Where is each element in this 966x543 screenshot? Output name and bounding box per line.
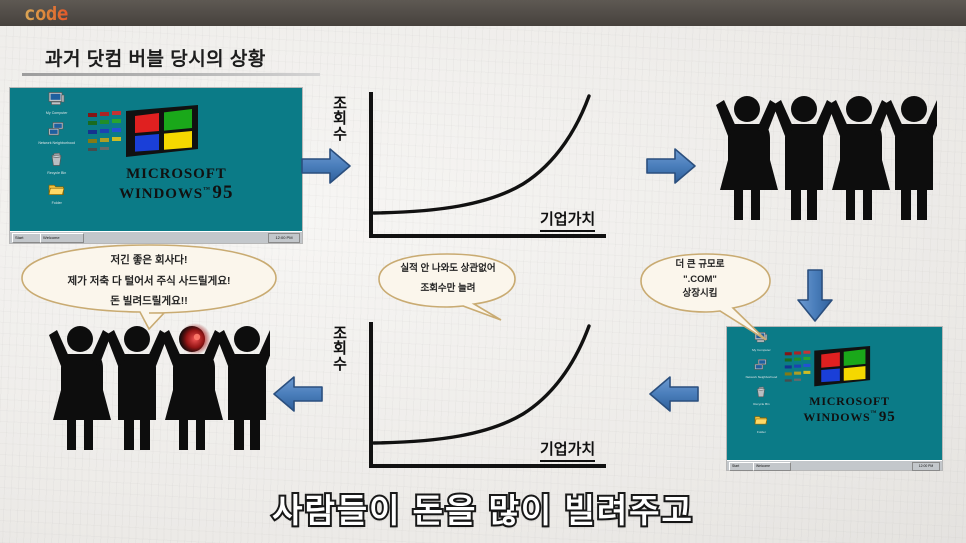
brand-tm: ™: [870, 410, 876, 416]
person-male-2: [883, 96, 937, 220]
windows-flag-icon: [86, 105, 204, 163]
icon-network-neighborhood[interactable]: Network Neighborhood: [736, 358, 788, 379]
slide-canvas: code 과거 닷컴 버블 당시의 상황 My Computer: [0, 0, 966, 543]
chart-bottom: 조회수 기업가치: [368, 322, 608, 472]
win95-taskbar[interactable]: Start Welcome 12:00 PM: [10, 231, 302, 243]
icon-recycle-bin[interactable]: Recycle Bin: [736, 385, 788, 406]
win95-taskbar[interactable]: Start Welcome 12:00 PM: [727, 460, 942, 470]
speech-bubble-company-text: 실적 안 나와도 상관없어 조회수만 늘려: [375, 252, 527, 330]
arrow-win95-to-chart-top: [300, 146, 352, 191]
start-label: Start: [732, 464, 739, 468]
crowd-bottom: [45, 318, 270, 473]
taskbar-window-button[interactable]: Welcome: [753, 462, 791, 471]
bubble-line: 더 큰 규모로: [676, 258, 725, 273]
clock-label: 12:00 PM: [919, 464, 934, 468]
bubble-line: 상장시킴: [683, 287, 718, 302]
speech-bubble-investors-text: 저긴 좋은 회사다! 제가 저축 다 털어서 주식 사드릴게요! 돈 빌려드릴게…: [18, 243, 280, 331]
network-neighborhood-icon: [22, 122, 92, 142]
icon-network-neighborhood[interactable]: Network Neighborhood: [22, 122, 92, 146]
arrow-chart-bottom-to-crowd-bottom: [272, 374, 324, 419]
windows95-screenshot-bottom: My Computer Network Neighborhood: [727, 327, 942, 470]
bubble-line: 실적 안 나와도 상관없어: [400, 259, 495, 279]
taskbar-window-label: Welcome: [43, 235, 60, 240]
icon-folder[interactable]: Folder: [736, 413, 788, 434]
folder-icon: [22, 182, 92, 202]
person-male-2: [216, 326, 270, 450]
title-divider: [22, 73, 320, 76]
taskbar-clock: 12:00 PM: [912, 462, 940, 471]
icon-label: Network Neighborhood: [22, 142, 92, 146]
person-female-2: [828, 96, 890, 220]
taskbar-window-button[interactable]: Welcome: [40, 233, 84, 243]
recycle-bin-icon: [22, 152, 92, 172]
brand-windows-line: WINDOWS™95: [86, 182, 267, 204]
chart-top-ylabel: 조회수: [323, 96, 357, 142]
icon-my-computer[interactable]: My Computer: [22, 92, 92, 116]
brand-version: 95: [879, 409, 896, 425]
speech-bubble-company: 실적 안 나와도 상관없어 조회수만 늘려: [375, 252, 527, 330]
speech-bubble-ipo: 더 큰 규모로 ".COM" 상장시킴: [636, 252, 784, 348]
code-logo: code: [24, 3, 68, 25]
brand-windows-line: WINDOWS™95: [783, 408, 916, 426]
person-female-1: [716, 96, 778, 220]
windows95-screenshot-top: My Computer Network Neighborhood: [10, 88, 302, 243]
clock-label: 12:00 PM: [275, 235, 292, 240]
person-female-1: [49, 326, 111, 450]
bubble-line: ".COM": [683, 273, 717, 288]
windows95-brand-logo: MICROSOFT WINDOWS™95: [86, 105, 267, 204]
chart-bottom-ylabel: 조회수: [323, 326, 357, 372]
bubble-line: 조회수만 늘려: [420, 279, 475, 299]
brand-tm: ™: [203, 186, 210, 194]
icon-label: Recycle Bin: [22, 172, 92, 176]
win95-desktop-icons: My Computer Network Neighborhood: [22, 92, 92, 211]
bottom-caption: 사람들이 돈을 많이 빌려주고: [0, 484, 966, 532]
recycle-bin-icon: [736, 385, 788, 403]
windows-flag-icon: [783, 346, 875, 391]
network-neighborhood-icon: [736, 358, 788, 376]
brand-windows: WINDOWS: [119, 186, 203, 202]
arrow-win95-bottom-to-chart-bottom: [648, 374, 700, 419]
windows-flag-wrap: MICROSOFT WINDOWS™95: [86, 105, 267, 204]
windows-flag-wrap: MICROSOFT WINDOWS™95: [783, 346, 916, 426]
arrow-crowd-top-to-win95-bottom: [795, 268, 835, 329]
person-male-1: [773, 96, 835, 220]
chart-top: 조회수 기업가치: [368, 92, 608, 242]
brand-version: 95: [212, 182, 233, 203]
crowd-bottom-figures: [45, 318, 270, 468]
speech-bubble-ipo-text: 더 큰 규모로 ".COM" 상장시킴: [636, 252, 784, 348]
icon-label: My Computer: [22, 112, 92, 116]
folder-icon: [736, 413, 788, 431]
icon-label: My Computer: [736, 349, 788, 352]
chart-top-xlabel: 기업가치: [540, 208, 595, 232]
chart-bottom-xlabel: 기업가치: [540, 438, 595, 462]
crowd-top-figures: [712, 88, 937, 238]
crowd-top: [712, 88, 937, 243]
brand-windows: WINDOWS: [803, 410, 870, 424]
my-computer-icon: [22, 92, 92, 112]
start-label: Start: [15, 235, 23, 240]
arrow-chart-top-to-crowd-top: [645, 146, 697, 191]
windows95-brand-logo: MICROSOFT WINDOWS™95: [783, 346, 916, 426]
win95-desktop: My Computer Network Neighborhood: [10, 88, 302, 232]
icon-folder[interactable]: Folder: [22, 182, 92, 206]
start-button[interactable]: Start: [729, 462, 755, 471]
icon-label: Folder: [736, 431, 788, 434]
icon-label: Folder: [22, 202, 92, 206]
person-male-1: [106, 326, 168, 450]
brand-microsoft: MICROSOFT: [86, 166, 267, 183]
icon-label: Network Neighborhood: [736, 376, 788, 379]
bubble-line: 제가 저축 다 털어서 주식 사드릴게요!: [68, 271, 231, 291]
icon-recycle-bin[interactable]: Recycle Bin: [22, 152, 92, 176]
taskbar-clock: 12:00 PM: [268, 233, 300, 243]
laser-pointer-dot: [194, 334, 200, 340]
page-title: 과거 닷컴 버블 당시의 상황: [45, 44, 266, 71]
taskbar-window-label: Welcome: [756, 464, 770, 468]
start-button[interactable]: Start: [12, 233, 42, 243]
bubble-line: 저긴 좋은 회사다!: [111, 250, 188, 270]
brand-microsoft: MICROSOFT: [783, 394, 916, 409]
app-top-bar: code: [0, 0, 966, 26]
bubble-line: 돈 빌려드릴게요!!: [110, 291, 188, 311]
speech-bubble-investors: 저긴 좋은 회사다! 제가 저축 다 털어서 주식 사드릴게요! 돈 빌려드릴게…: [18, 243, 280, 331]
icon-label: Recycle Bin: [736, 403, 788, 406]
